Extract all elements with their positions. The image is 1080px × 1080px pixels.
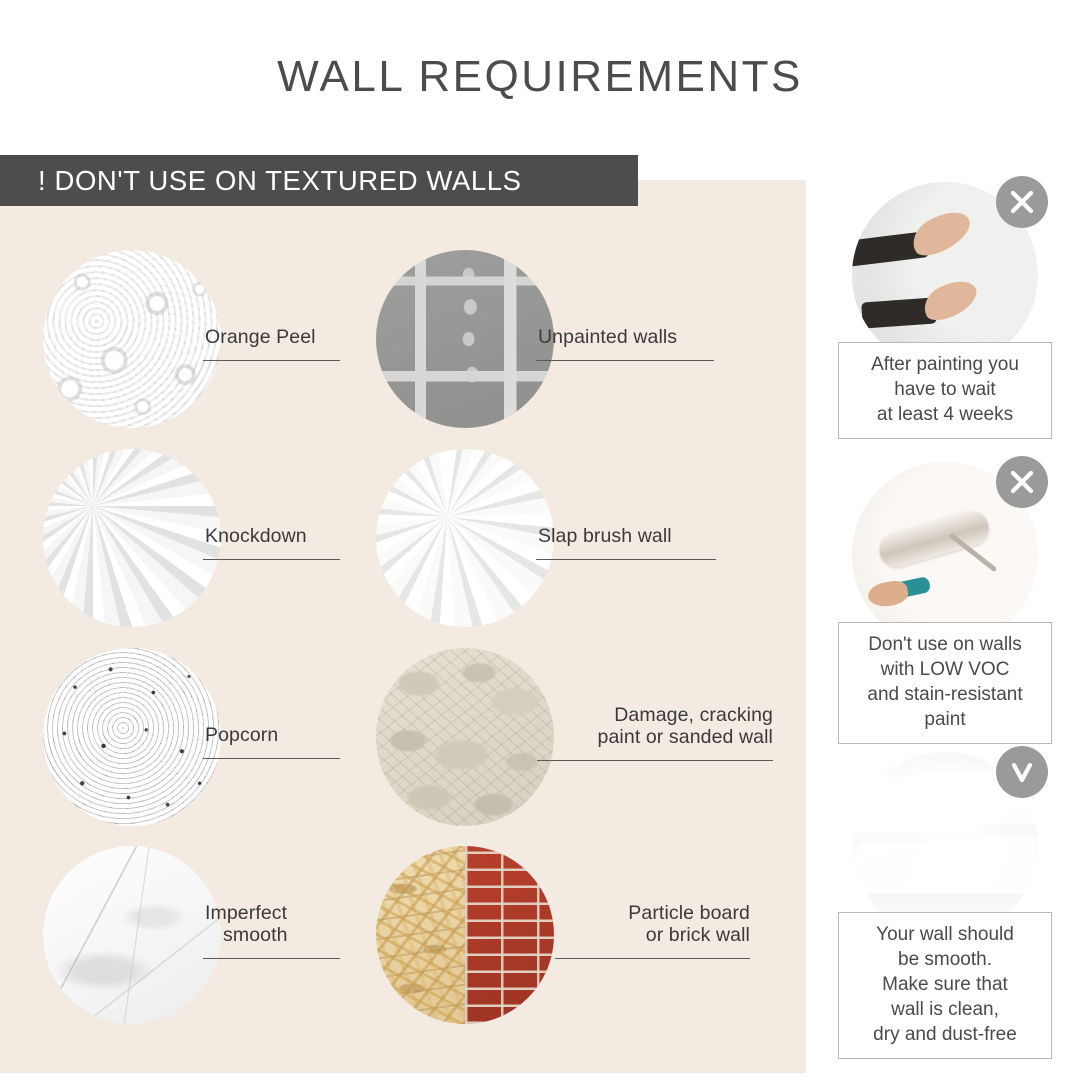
hand-shape [866,579,910,610]
label-underline [203,958,340,959]
infographic-page: WALL REQUIREMENTS ! DON'T USE ON TEXTURE… [0,0,1080,1080]
card-photo-area [838,462,1052,622]
orange-peel-texture-swatch [43,250,221,428]
slap-brush-texture-swatch [376,449,554,627]
label-underline [536,559,716,560]
label-underline [536,360,714,361]
texture-item-slap-brush-wall: Slap brush wall [333,449,733,649]
imperfect-smooth-texture-swatch [43,846,221,1024]
cross-icon [996,456,1048,508]
guideline-card-low-voc: Don't use on walls with LOW VOC and stai… [838,462,1052,744]
label-underline [203,559,340,560]
popcorn-texture-swatch [43,648,221,826]
texture-label-particle-board-brick: Particle board or brick wall [528,902,750,946]
label-underline [555,958,750,959]
texture-grid: Orange Peel Unpainted walls Knockdown Sl… [0,180,806,1073]
particle-board-half [376,846,465,1024]
texture-item-damaged-wall: Damage, cracking paint or sanded wall [333,648,733,848]
texture-label-slap-brush-wall: Slap brush wall [538,525,753,547]
light-pane-shape [907,838,1038,894]
card-photo-area [838,752,1052,912]
guideline-card-smooth-wall: Your wall should be smooth. Make sure th… [838,752,1052,1059]
knockdown-texture-swatch [43,449,221,627]
texture-label-unpainted-walls: Unpainted walls [538,326,748,348]
guidelines-sidebar: After painting you have to wait at least… [838,0,1080,1080]
check-icon [996,746,1048,798]
label-underline [203,360,340,361]
label-underline [203,758,340,759]
cross-icon [996,176,1048,228]
texture-label-damaged-wall: Damage, cracking paint or sanded wall [528,704,773,748]
card-caption-wait-4-weeks: After painting you have to wait at least… [838,342,1052,439]
unpainted-drywall-texture-swatch [376,250,554,428]
card-caption-low-voc: Don't use on walls with LOW VOC and stai… [838,622,1052,744]
texture-item-particle-board-brick: Particle board or brick wall [333,846,733,1046]
roller-drum-shape [875,507,992,571]
card-caption-smooth-wall: Your wall should be smooth. Make sure th… [838,912,1052,1059]
label-underline [537,760,773,761]
card-photo-area [838,182,1052,342]
guideline-card-wait-4-weeks: After painting you have to wait at least… [838,182,1052,439]
texture-item-unpainted-walls: Unpainted walls [333,250,733,450]
